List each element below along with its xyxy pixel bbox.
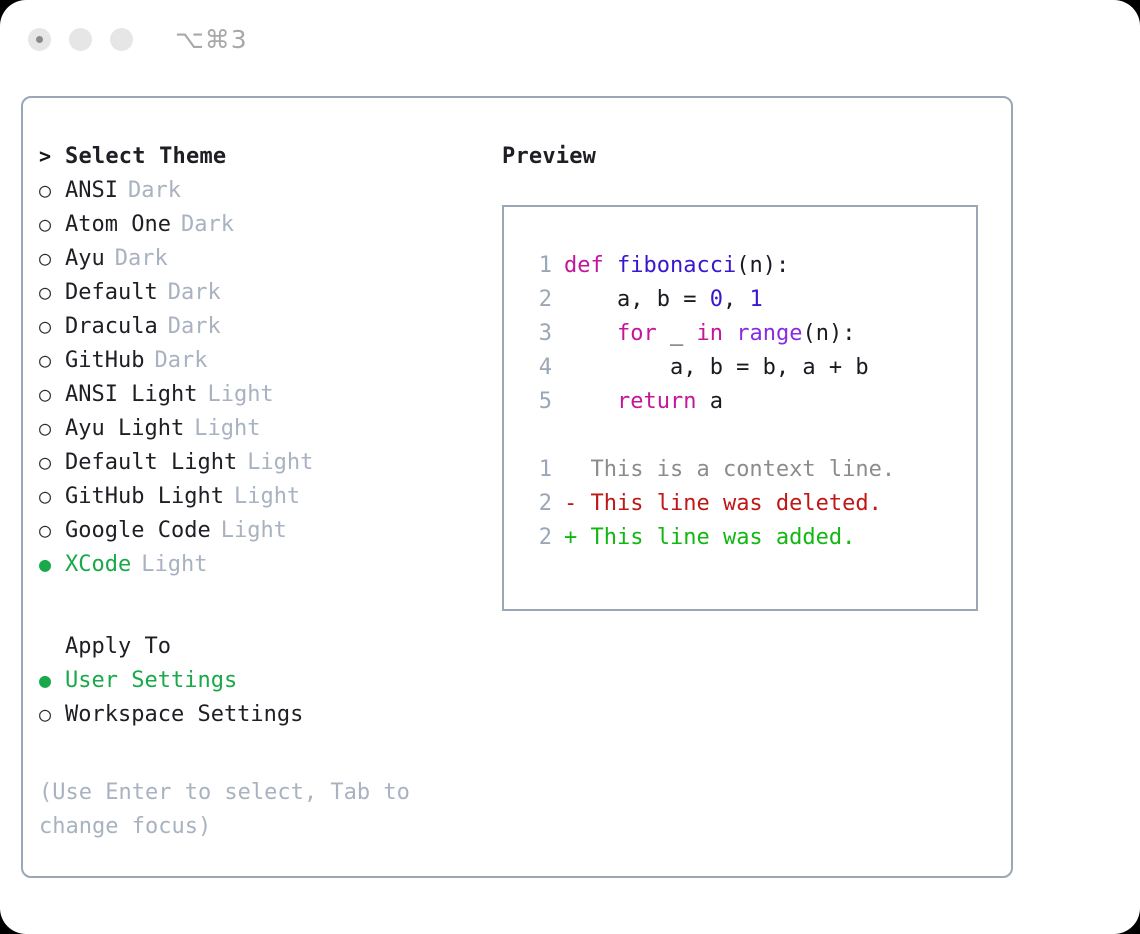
theme-picker-heading-label: Select Theme [65, 144, 226, 169]
theme-list-item[interactable]: ○ANSI LightLight [39, 382, 489, 416]
radio-unselected-icon: ○ [39, 520, 65, 540]
code-token-num: 1 [749, 287, 762, 312]
theme-name: ANSI Light [65, 382, 197, 407]
line-number: 1 [518, 453, 552, 487]
radio-selected-icon: ● [39, 670, 65, 690]
code-token-kw: return [617, 389, 696, 414]
line-number: 2 [518, 283, 552, 317]
radio-unselected-icon: ○ [39, 704, 65, 724]
code-token-pl: _ [657, 321, 697, 346]
theme-list-item[interactable]: ○AyuDark [39, 246, 489, 280]
theme-variant-badge: Light [234, 484, 300, 509]
diff-marker [564, 453, 577, 487]
theme-variant-badge: Dark [168, 314, 221, 339]
radio-unselected-icon: ○ [39, 214, 65, 234]
theme-variant-badge: Dark [154, 348, 207, 373]
code-token-pl: , [723, 287, 750, 312]
theme-variant-badge: Light [247, 450, 313, 475]
theme-variant-badge: Light [221, 518, 287, 543]
radio-unselected-icon: ○ [39, 180, 65, 200]
code-token-pl: a [696, 389, 723, 414]
diff-text: This is a context line. [577, 453, 895, 487]
close-button[interactable] [28, 28, 51, 51]
code-line: 1def fibonacci(n): [518, 249, 976, 283]
code-token-num: 0 [710, 287, 723, 312]
code-token-kw: for [617, 321, 657, 346]
theme-picker-column: > Select Theme ○ANSIDark○Atom OneDark○Ay… [39, 144, 489, 844]
apply-to-option[interactable]: ●User Settings [39, 668, 489, 702]
apply-to-option-label: Workspace Settings [65, 702, 303, 727]
code-sample: 1def fibonacci(n):2 a, b = 0, 13 for _ i… [518, 249, 976, 419]
preview-title: Preview [502, 144, 992, 169]
preview-box: 1def fibonacci(n):2 a, b = 0, 13 for _ i… [502, 205, 978, 611]
code-token-kw: in [696, 321, 723, 346]
radio-selected-icon: ● [39, 554, 65, 574]
window-controls [28, 28, 133, 51]
diff-marker: + [564, 521, 577, 555]
maximize-button[interactable] [110, 28, 133, 51]
code-line: 3 for _ in range(n): [518, 317, 976, 351]
minimize-button[interactable] [69, 28, 92, 51]
theme-name: Dracula [65, 314, 158, 339]
apply-to-heading: Apply To [65, 634, 489, 668]
diff-line: 2+ This line was added. [518, 521, 976, 555]
code-token-kw: def [564, 253, 617, 278]
radio-unselected-icon: ○ [39, 282, 65, 302]
theme-list-item[interactable]: ○GitHub LightLight [39, 484, 489, 518]
code-token-pl [564, 389, 617, 414]
theme-list-item[interactable]: ○Google CodeLight [39, 518, 489, 552]
code-token-pl: (n): [736, 253, 789, 278]
theme-variant-badge: Light [207, 382, 273, 407]
theme-name: ANSI [65, 178, 118, 203]
radio-unselected-icon: ○ [39, 418, 65, 438]
theme-list-item[interactable]: ○Default LightLight [39, 450, 489, 484]
apply-to-list: ●User Settings○Workspace Settings [39, 668, 489, 736]
apply-to-option-label: User Settings [65, 668, 237, 693]
close-dot-icon [36, 36, 43, 43]
code-text: for _ in range(n): [564, 317, 855, 351]
theme-list-item[interactable]: ○DefaultDark [39, 280, 489, 314]
theme-list-item[interactable]: ○Atom OneDark [39, 212, 489, 246]
main-panel: > Select Theme ○ANSIDark○Atom OneDark○Ay… [21, 96, 1013, 878]
theme-variant-badge: Dark [181, 212, 234, 237]
line-number: 1 [518, 249, 552, 283]
radio-unselected-icon: ○ [39, 316, 65, 336]
app-window: ⌥⌘3 > Select Theme ○ANSIDark○Atom OneDar… [0, 0, 1140, 934]
line-number: 2 [518, 487, 552, 521]
apply-to-option[interactable]: ○Workspace Settings [39, 702, 489, 736]
diff-marker: - [564, 487, 577, 521]
code-line: 2 a, b = 0, 1 [518, 283, 976, 317]
code-text: return a [564, 385, 723, 419]
theme-variant-badge: Light [194, 416, 260, 441]
diff-line: 2- This line was deleted. [518, 487, 976, 521]
theme-name: XCode [65, 552, 131, 577]
code-token-pl: (n): [802, 321, 855, 346]
code-token-pl [564, 321, 617, 346]
theme-name: Atom One [65, 212, 171, 237]
theme-list-item[interactable]: ○Ayu LightLight [39, 416, 489, 450]
diff-text: This line was added. [577, 521, 855, 555]
keyboard-hint: (Use Enter to select, Tab to change focu… [39, 776, 439, 844]
code-token-pl: a, b = [564, 287, 710, 312]
code-token-bi: range [736, 321, 802, 346]
theme-name: Google Code [65, 518, 211, 543]
code-line: 4 a, b = b, a + b [518, 351, 976, 385]
theme-name: Default Light [65, 450, 237, 475]
theme-name: Ayu [65, 246, 105, 271]
theme-list-item[interactable]: ○ANSIDark [39, 178, 489, 212]
code-token-fn: fibonacci [617, 253, 736, 278]
theme-picker-heading: > Select Theme [39, 144, 489, 178]
theme-variant-badge: Dark [168, 280, 221, 305]
radio-unselected-icon: ○ [39, 452, 65, 472]
code-token-pl [723, 321, 736, 346]
theme-variant-badge: Dark [128, 178, 181, 203]
theme-list-item[interactable]: ●XCodeLight [39, 552, 489, 586]
diff-text: This line was deleted. [577, 487, 882, 521]
radio-unselected-icon: ○ [39, 248, 65, 268]
code-text: def fibonacci(n): [564, 249, 789, 283]
caret-icon: > [39, 146, 65, 166]
diff-line: 1 This is a context line. [518, 453, 976, 487]
theme-variant-badge: Dark [115, 246, 168, 271]
code-text: a, b = 0, 1 [564, 283, 763, 317]
theme-name: GitHub Light [65, 484, 224, 509]
code-token-pl: a, b = b, a + b [564, 355, 869, 380]
code-diff-spacer [518, 419, 976, 453]
line-number: 5 [518, 385, 552, 419]
theme-name: GitHub [65, 348, 144, 373]
title-bar: ⌥⌘3 [0, 0, 1140, 78]
theme-variant-badge: Light [141, 552, 207, 577]
theme-list-item[interactable]: ○GitHubDark [39, 348, 489, 382]
diff-sample: 1 This is a context line.2- This line wa… [518, 453, 976, 555]
theme-name: Ayu Light [65, 416, 184, 441]
line-number: 4 [518, 351, 552, 385]
radio-unselected-icon: ○ [39, 384, 65, 404]
radio-unselected-icon: ○ [39, 486, 65, 506]
section-spacer [39, 586, 489, 634]
theme-name: Default [65, 280, 158, 305]
line-number: 3 [518, 317, 552, 351]
theme-list-item[interactable]: ○DraculaDark [39, 314, 489, 348]
keyboard-shortcut-label: ⌥⌘3 [175, 25, 248, 54]
preview-column: Preview 1def fibonacci(n):2 a, b = 0, 13… [502, 144, 992, 611]
radio-unselected-icon: ○ [39, 350, 65, 370]
code-line: 5 return a [518, 385, 976, 419]
theme-list: ○ANSIDark○Atom OneDark○AyuDark○DefaultDa… [39, 178, 489, 586]
line-number: 2 [518, 521, 552, 555]
code-text: a, b = b, a + b [564, 351, 869, 385]
